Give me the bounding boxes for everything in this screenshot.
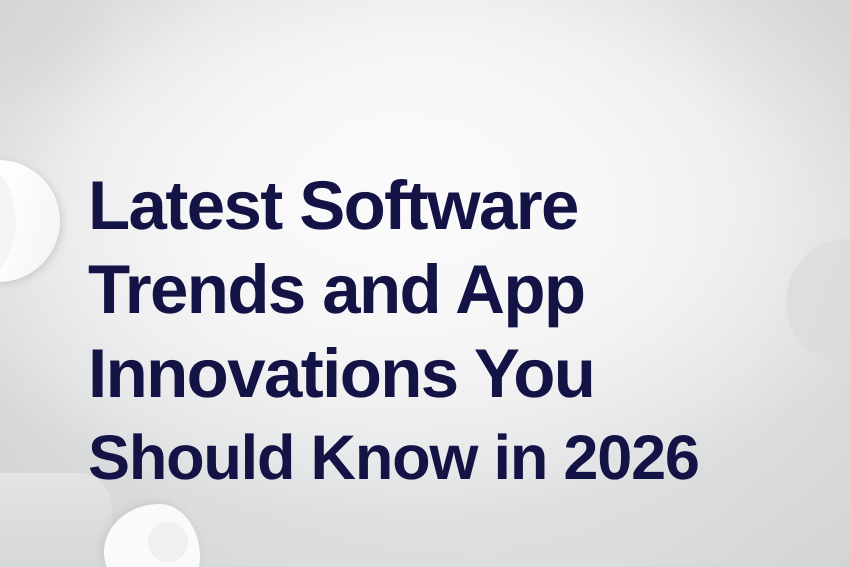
top-left-soft-shape [0,0,120,110]
bottom-petal-notch [148,522,188,562]
banner-image: Latest Software Trends and App Innovatio… [0,0,850,567]
headline-line-3: Innovations You [88,332,788,416]
headline-line-1: Latest Software [88,164,788,248]
headline-line-2: Trends and App [88,248,788,332]
headline-line-4: Should Know in 2026 [88,416,788,500]
page-title: Latest Software Trends and App Innovatio… [88,164,788,500]
